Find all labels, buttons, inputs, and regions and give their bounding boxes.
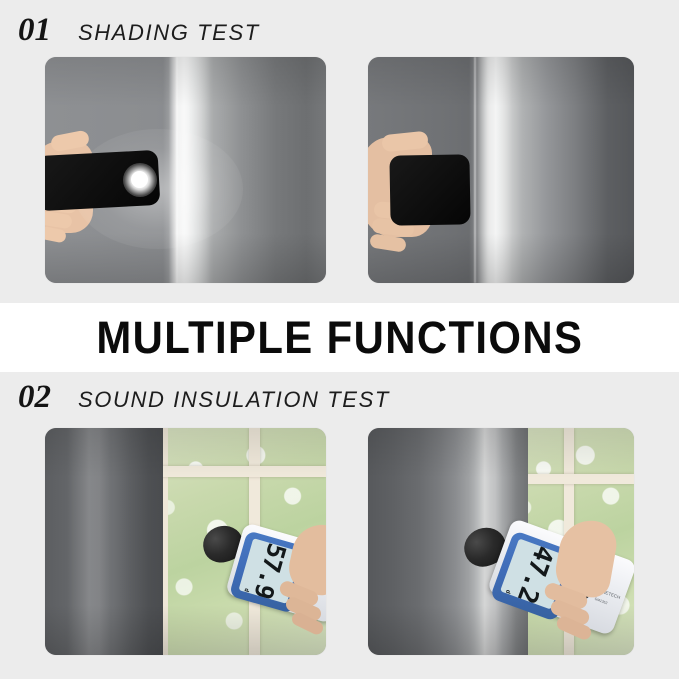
photo-sound-window-open: 57.9 dB BENETECH <box>45 428 326 655</box>
section-number-01: 01 <box>18 14 51 47</box>
window-mullion-horizontal <box>159 466 326 477</box>
photo-sound-curtain-closed: 47.2 dB BENETECH GM1352 <box>368 428 634 655</box>
section-number-02: 02 <box>18 381 51 414</box>
section-header-01: 01 SHADING TEST <box>18 14 260 47</box>
section-header-02: 02 SOUND INSULATION TEST <box>18 381 390 414</box>
curtain-fabric <box>45 428 163 655</box>
photo-shading-light-on <box>45 57 326 283</box>
curtain-seam <box>474 57 476 283</box>
banner-title: MULTIPLE FUNCTIONS <box>96 315 583 360</box>
section-title-02: SOUND INSULATION TEST <box>78 389 390 411</box>
window-mullion-horizontal <box>518 474 634 484</box>
flashlight-led-core <box>131 171 148 188</box>
section-title-01: SHADING TEST <box>78 22 260 44</box>
banner: MULTIPLE FUNCTIONS <box>0 303 679 372</box>
infographic-page: 01 SHADING TEST MULTIPLE FUNCTION <box>0 0 679 679</box>
photo-shading-light-blocked <box>368 57 634 283</box>
phone <box>389 154 470 225</box>
